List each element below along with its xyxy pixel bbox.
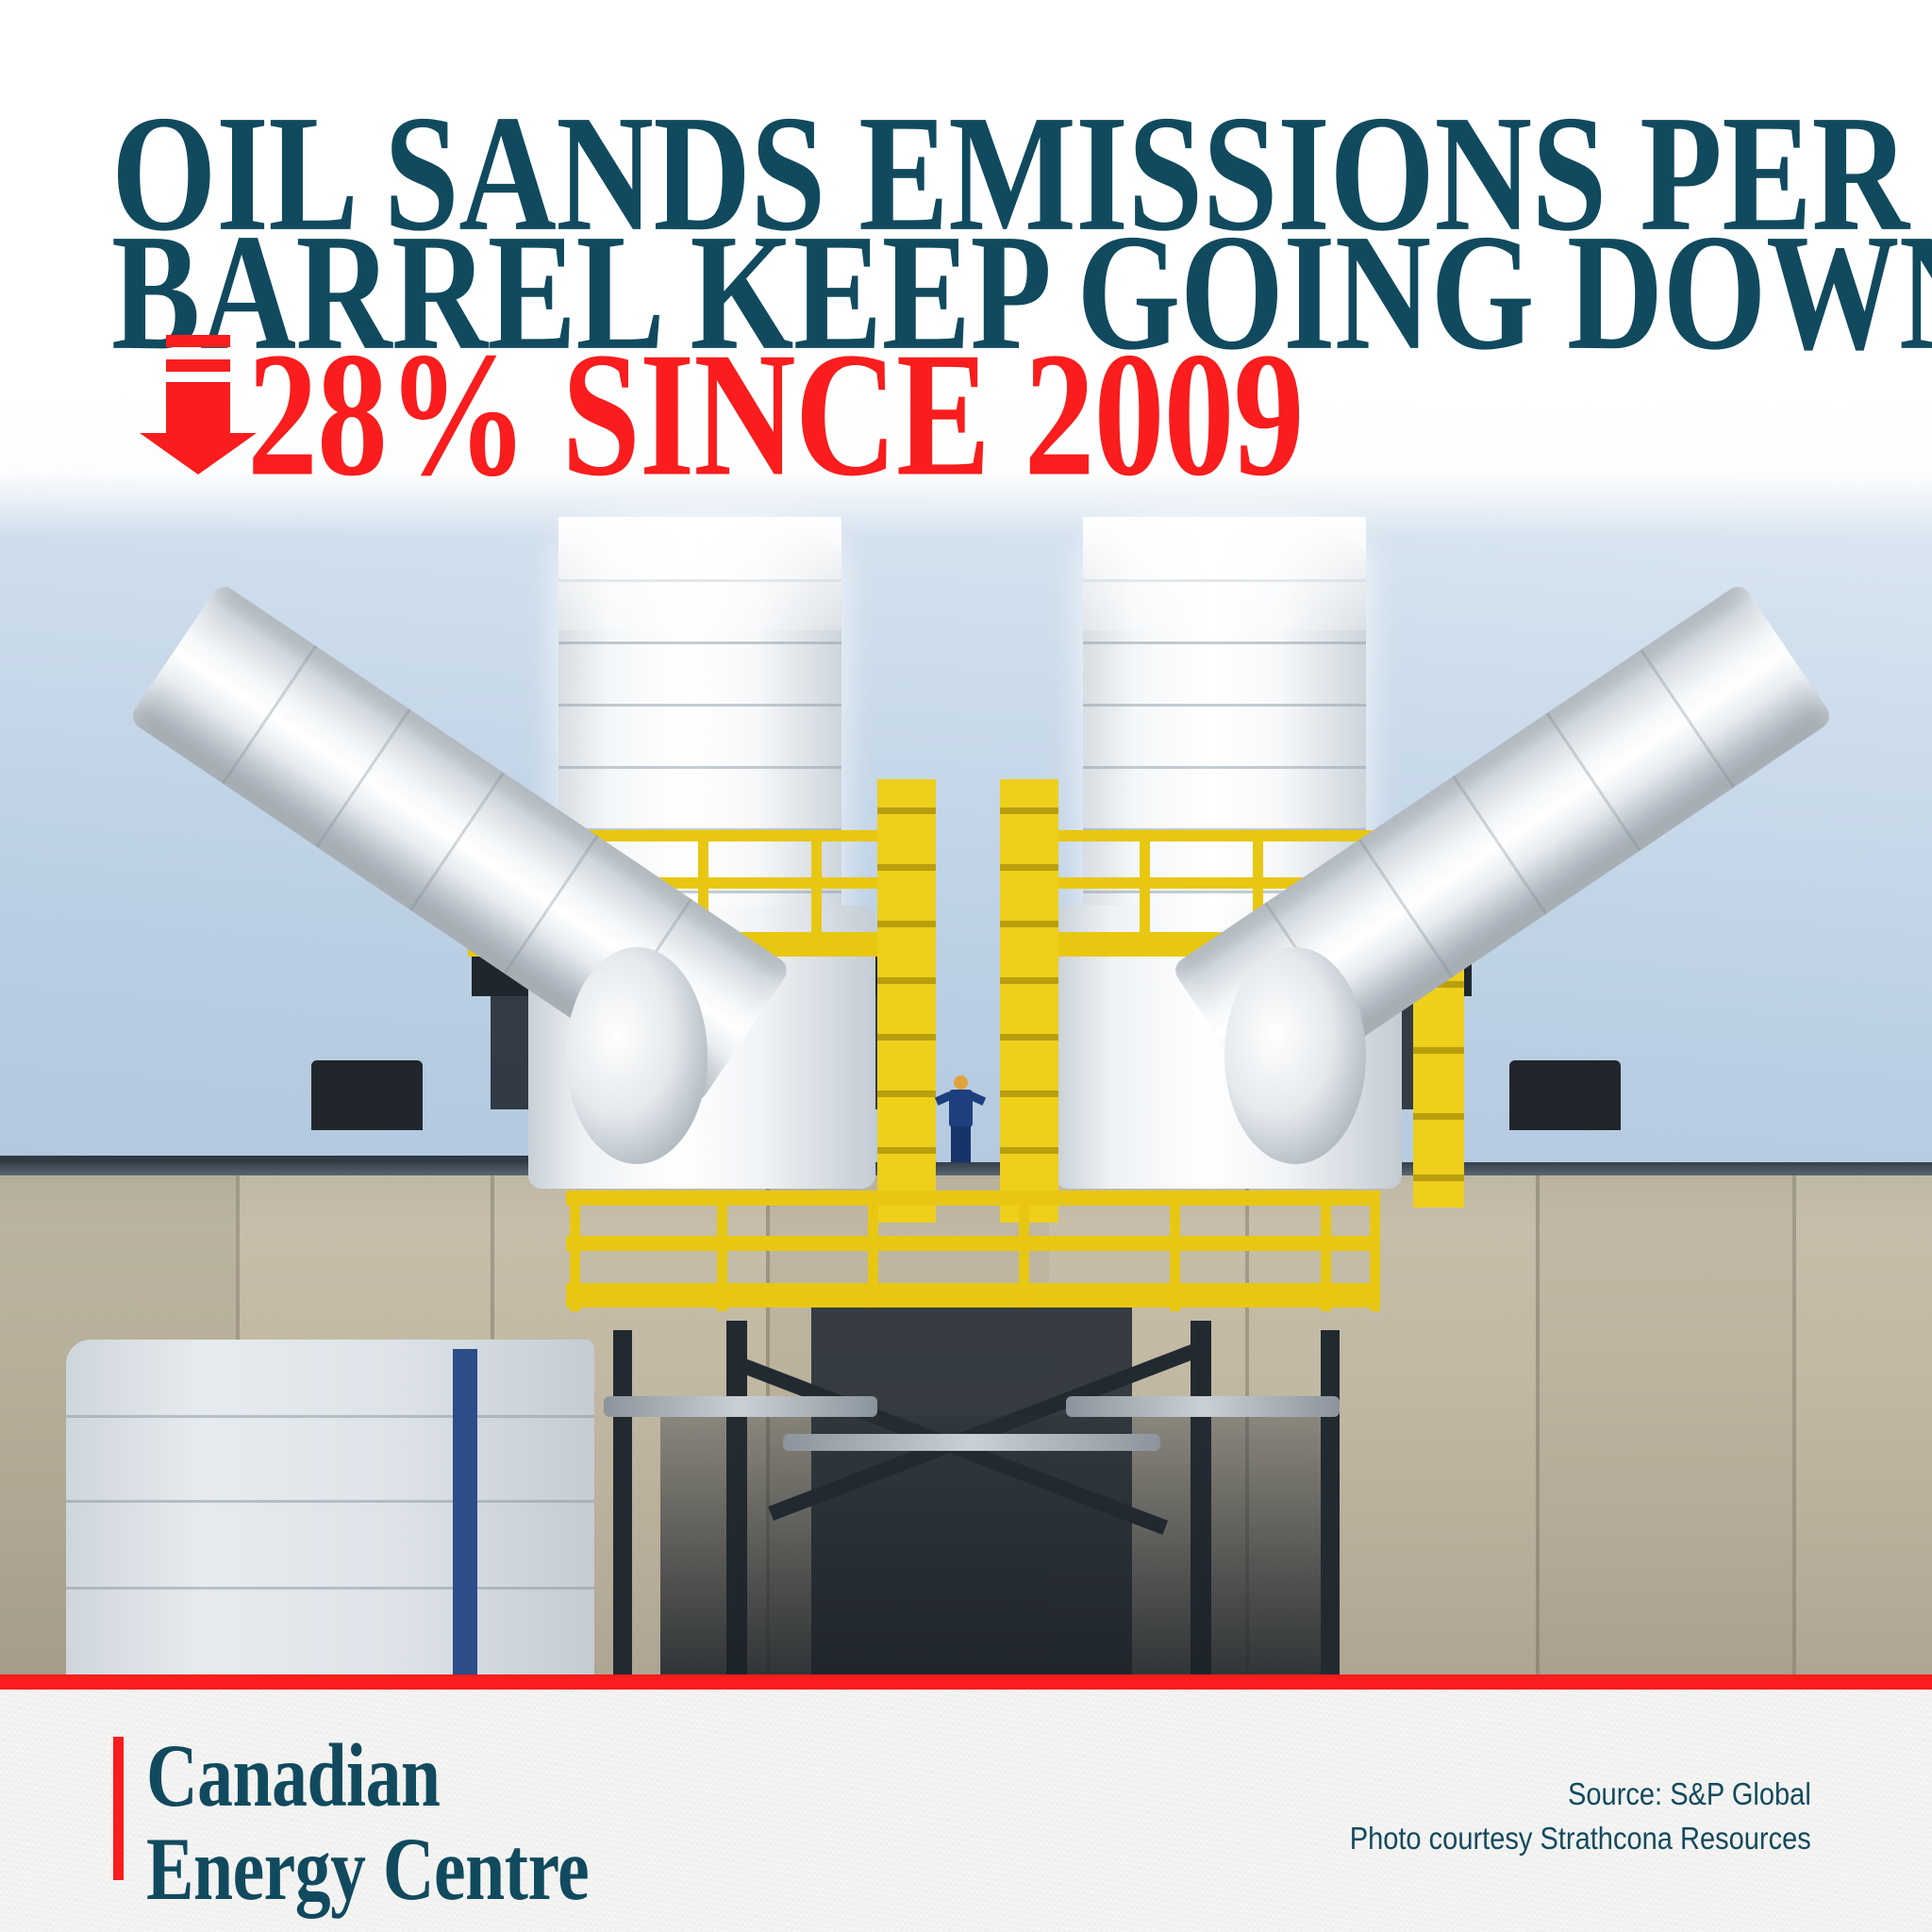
subheadline-text: 28% SINCE 2009 [247,325,1304,504]
logo-wordmark: Canadian Energy Centre [146,1733,603,1897]
credits-block: Source: S&P Global Photo courtesy Strath… [1287,1773,1811,1861]
logo-accent-bar [113,1737,124,1880]
photo-credit-text: Photo courtesy Strathcona Resources [1350,1817,1811,1861]
logo-canadian-energy-centre[interactable]: Canadian Energy Centre [113,1733,603,1897]
red-divider [0,1674,1932,1690]
footer-block: Canadian Energy Centre Source: S&P Globa… [0,1690,1932,1932]
logo-line-1: Canadian [146,1733,589,1819]
arrow-down-icon [140,335,230,467]
logo-line-2: Energy Centre [146,1826,589,1912]
source-text: Source: S&P Global [1350,1773,1811,1817]
infographic-poster: OIL SANDS EMISSIONS PER BARREL KEEP GOIN… [0,0,1932,1932]
